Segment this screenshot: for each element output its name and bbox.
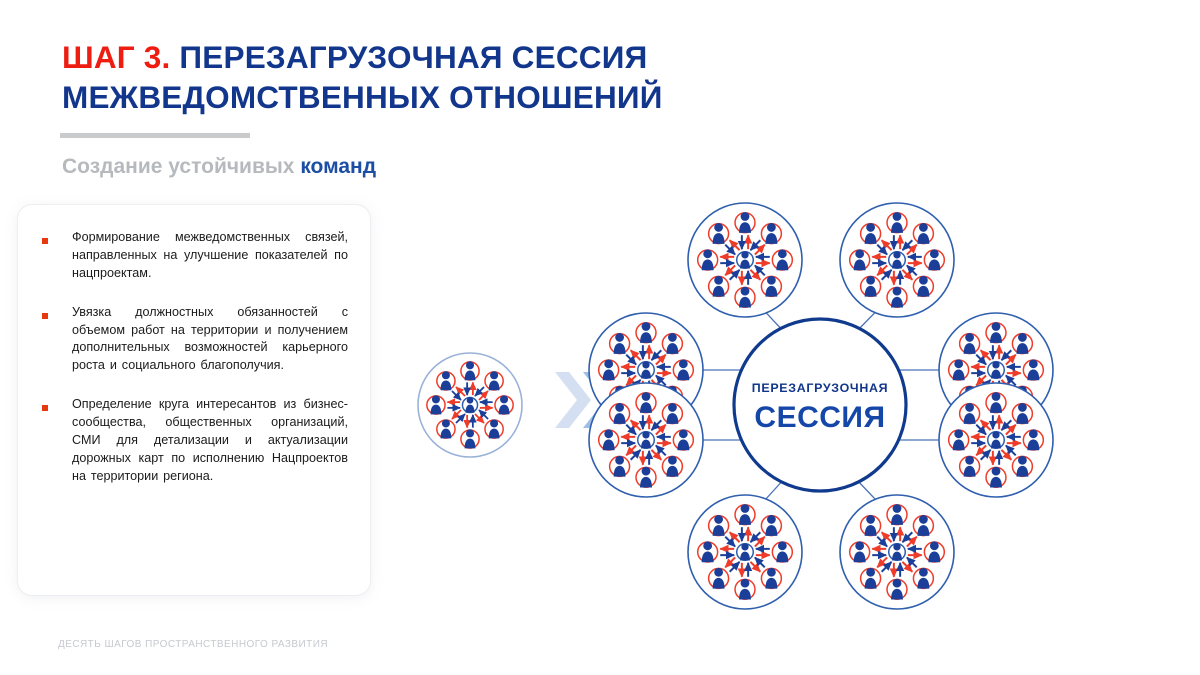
- list-item-text: Формирование межведомственных связей, на…: [72, 229, 348, 283]
- team-cluster: [418, 353, 522, 457]
- bullet-square-icon: [42, 238, 48, 244]
- footer-note: ДЕСЯТЬ ШАГОВ ПРОСТРАНСТВЕННОГО РАЗВИТИЯ: [58, 639, 328, 650]
- bullet-square-icon: [42, 405, 48, 411]
- bullet-card: Формирование межведомственных связей, на…: [18, 205, 370, 595]
- subtitle-accent-text: команд: [300, 155, 376, 178]
- bullet-square-icon: [42, 313, 48, 319]
- center-hub-title: СЕССИЯ: [754, 401, 885, 434]
- title-divider: [60, 133, 250, 138]
- team-cluster: [840, 495, 954, 609]
- page-title: ШАГ 3. ПЕРЕЗАГРУЗОЧНАЯ СЕССИЯ МЕЖВЕДОМСТ…: [62, 38, 762, 117]
- team-cluster: [688, 495, 802, 609]
- subtitle: Создание устойчивых команд: [62, 155, 376, 179]
- bullet-list: Формирование межведомственных связей, на…: [42, 229, 348, 507]
- team-cluster: [589, 383, 703, 497]
- list-item-text: Увязка должностных обязанностей с объемо…: [72, 304, 348, 376]
- title-block: ШАГ 3. ПЕРЕЗАГРУЗОЧНАЯ СЕССИЯ МЕЖВЕДОМСТ…: [62, 38, 762, 117]
- network-diagram: ПЕРЕЗАГРУЗОЧНАЯ СЕССИЯ: [400, 140, 1200, 660]
- list-item: Формирование межведомственных связей, на…: [42, 229, 348, 283]
- page-title-step: ШАГ 3.: [62, 39, 170, 75]
- subtitle-gray-text: Создание устойчивых: [62, 155, 300, 178]
- list-item-text: Определение круга интересантов из бизнес…: [72, 396, 348, 485]
- list-item: Определение круга интересантов из бизнес…: [42, 396, 348, 485]
- list-item: Увязка должностных обязанностей с объемо…: [42, 304, 348, 376]
- team-cluster: [688, 203, 802, 317]
- team-cluster: [939, 383, 1053, 497]
- source-cluster: [418, 353, 522, 457]
- center-hub: ПЕРЕЗАГРУЗОЧНАЯ СЕССИЯ: [734, 319, 906, 491]
- center-hub-subtitle: ПЕРЕЗАГРУЗОЧНАЯ: [752, 381, 889, 395]
- team-cluster: [840, 203, 954, 317]
